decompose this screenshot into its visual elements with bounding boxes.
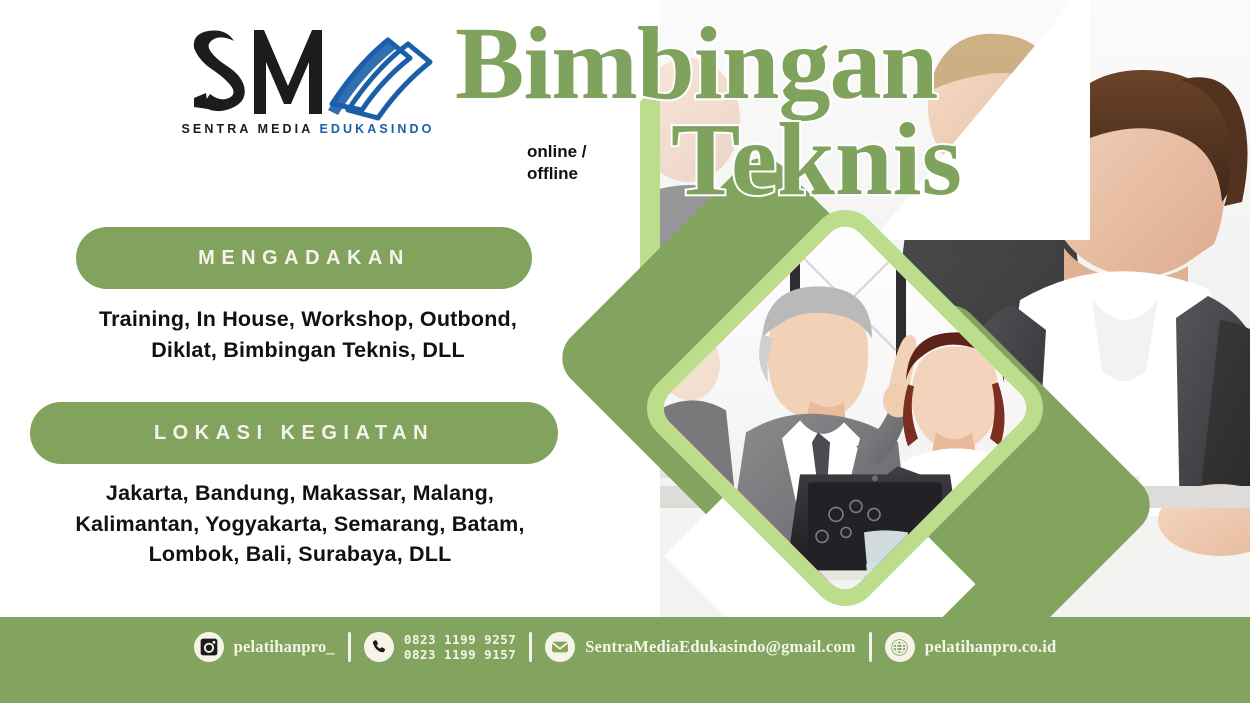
contact-website[interactable]: pelatihanpro.co.id xyxy=(885,632,1057,662)
separator-3 xyxy=(869,632,872,662)
services-line-2: Diklat, Bimbingan Teknis, DLL xyxy=(38,335,578,366)
services-text: Training, In House, Workshop, Outbond, D… xyxy=(38,304,578,365)
phone-numbers: 0823 1199 9257 0823 1199 9157 xyxy=(404,632,516,662)
online-offline-line1: online / xyxy=(527,141,587,163)
envelope-icon xyxy=(545,632,575,662)
company-logo: SENTRA MEDIA EDUKASINDO xyxy=(178,26,438,146)
banner-canvas: SENTRA MEDIA EDUKASINDO Bimbingan Teknis… xyxy=(0,0,1250,703)
envelope-glyph xyxy=(550,637,570,657)
logo-tagline-part1: SENTRA MEDIA xyxy=(181,122,319,136)
contact-footer-bar: pelatihanpro_ 0823 1199 9257 0823 1199 9… xyxy=(0,617,1250,703)
logo-mark-svg xyxy=(178,26,438,122)
phone-number-2: 0823 1199 9157 xyxy=(404,647,516,662)
contact-instagram[interactable]: pelatihanpro_ xyxy=(194,632,335,662)
globe-icon xyxy=(885,632,915,662)
contact-phone[interactable]: 0823 1199 9257 0823 1199 9157 xyxy=(364,632,516,662)
separator-2 xyxy=(529,632,532,662)
locations-text: Jakarta, Bandung, Makassar, Malang, Kali… xyxy=(20,478,580,570)
website-url: pelatihanpro.co.id xyxy=(925,637,1057,657)
email-address: SentraMediaEdukasindo@gmail.com xyxy=(585,637,855,657)
separator-1 xyxy=(348,632,351,662)
instagram-icon xyxy=(194,632,224,662)
phone-number-1: 0823 1199 9257 xyxy=(404,632,516,647)
locations-line-2: Kalimantan, Yogyakarta, Semarang, Batam, xyxy=(20,509,580,540)
logo-tagline: SENTRA MEDIA EDUKASINDO xyxy=(178,122,438,136)
instagram-handle: pelatihanpro_ xyxy=(234,637,335,657)
pill-lokasi-kegiatan: LOKASI KEGIATAN xyxy=(30,402,558,464)
contact-row: pelatihanpro_ 0823 1199 9257 0823 1199 9… xyxy=(0,617,1250,677)
online-offline-line2: offline xyxy=(527,163,587,185)
logo-tagline-part2: EDUKASINDO xyxy=(319,122,434,136)
phone-icon xyxy=(364,632,394,662)
locations-line-3: Lombok, Bali, Surabaya, DLL xyxy=(20,539,580,570)
globe-glyph xyxy=(889,637,910,658)
title-line-1: Bimbingan xyxy=(455,18,962,110)
services-line-1: Training, In House, Workshop, Outbond, xyxy=(38,304,578,335)
online-offline-label: online / offline xyxy=(527,141,587,185)
contact-email[interactable]: SentraMediaEdukasindo@gmail.com xyxy=(545,632,855,662)
locations-line-1: Jakarta, Bandung, Makassar, Malang, xyxy=(20,478,580,509)
phone-glyph xyxy=(370,638,388,656)
instagram-glyph xyxy=(199,637,219,657)
pill-mengadakan: MENGADAKAN xyxy=(76,227,532,289)
title-line-2: Teknis xyxy=(671,114,962,206)
